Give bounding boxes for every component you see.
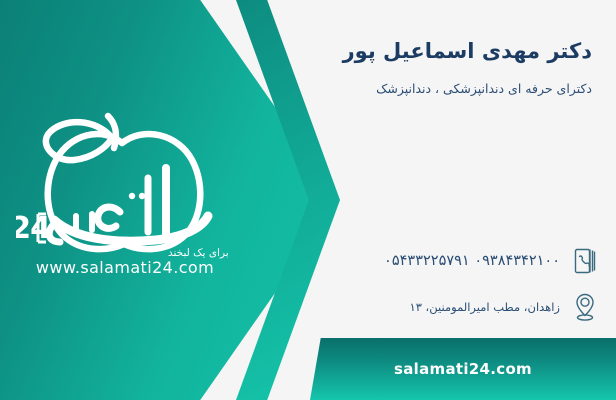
address-text: زاهدان، مطب امیرالمومنین، ۱۳ (328, 300, 560, 314)
phone-book-icon (570, 244, 600, 278)
footer-bar: salamati24.com (310, 338, 616, 400)
phone-numbers: ۰۹۳۸۴۳۴۲۱۰۰ ۰۵۴۳۳۲۲۵۷۹۱ (328, 253, 560, 269)
business-card: 24 برای یک لبخند www.salamati24.com دکتر… (0, 0, 616, 400)
salamati24-logo: 24 برای یک لبخند www.salamati24.com (16, 104, 234, 276)
map-pin-icon (570, 290, 600, 324)
doctor-name: دکتر مهدی اسماعیل پور (328, 38, 592, 64)
footer-website[interactable]: salamati24.com (310, 360, 616, 378)
address-row[interactable]: زاهدان، مطب امیرالمومنین، ۱۳ (328, 290, 600, 324)
logo-24-badge: 24 (16, 211, 50, 246)
phone-row[interactable]: ۰۹۳۸۴۳۴۲۱۰۰ ۰۵۴۳۳۲۲۵۷۹۱ (328, 244, 600, 278)
doctor-specialty: دکترای حرفه ای دندانپزشکی ، دندانپزشک (328, 80, 592, 99)
logo-website: www.salamati24.com (36, 258, 214, 276)
contact-details: ۰۹۳۸۴۳۴۲۱۰۰ ۰۵۴۳۳۲۲۵۷۹۱ زاهدان، مطب امیر… (328, 244, 600, 336)
